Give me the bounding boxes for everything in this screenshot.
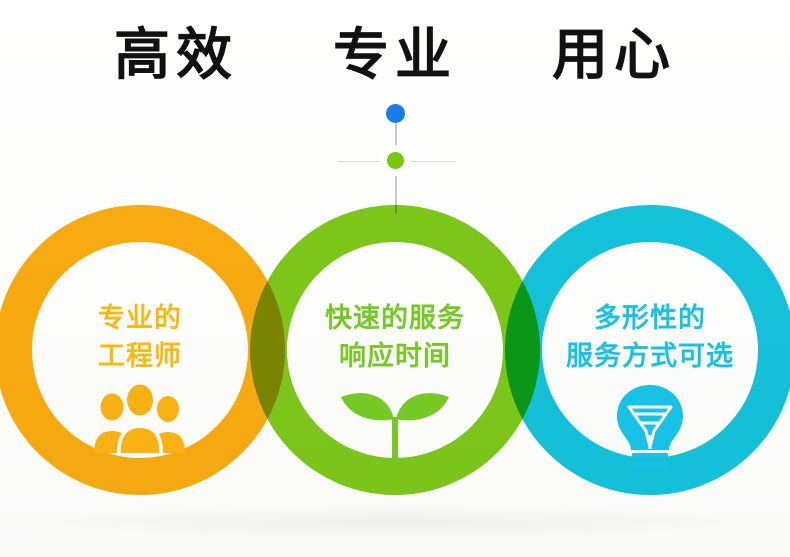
- circle-text-engineers: 专业的 工程师: [32, 300, 248, 377]
- circle-text-line: 快速的服务: [287, 300, 503, 338]
- circle-text-service-options: 多形性的 服务方式可选: [542, 300, 758, 377]
- circle-content-response-time: 快速的服务 响应时间: [287, 300, 503, 469]
- circle-text-line: 服务方式可选: [542, 338, 758, 376]
- venn-diagram: [0, 0, 790, 557]
- circle-text-line: 多形性的: [542, 300, 758, 338]
- icon-slot-service-options: [542, 383, 758, 469]
- circle-text-line: 响应时间: [287, 338, 503, 376]
- people-team-icon: [92, 383, 188, 453]
- icon-slot-response-time: [287, 383, 503, 469]
- circle-text-line: 工程师: [32, 338, 248, 376]
- circle-text-response-time: 快速的服务 响应时间: [287, 300, 503, 377]
- circle-content-engineers: 专业的 工程师: [32, 300, 248, 469]
- circle-text-line: 专业的: [32, 300, 248, 338]
- poster-canvas: 高效 专业 用心 专业的 工程师: [0, 0, 790, 557]
- circle-content-service-options: 多形性的 服务方式可选: [542, 300, 758, 469]
- icon-slot-engineers: [32, 383, 248, 469]
- lightbulb-idea-icon: [610, 383, 690, 467]
- ground-shadow: [0, 505, 790, 539]
- sprout-leaf-icon: [337, 383, 453, 465]
